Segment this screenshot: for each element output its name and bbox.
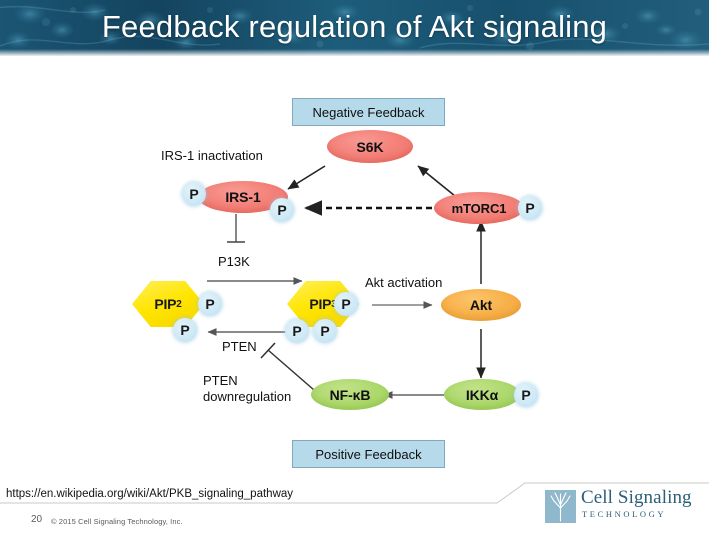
tbar-pten (261, 343, 275, 358)
p-badge-pip2-right: P (198, 292, 222, 316)
logo-subtitle: TECHNOLOGY (582, 509, 666, 519)
slide-header: Feedback regulation of Akt signaling (0, 0, 709, 56)
pi3k-label: P13K (218, 254, 250, 269)
pten-downregulation-line1: PTEN (203, 373, 238, 388)
edge-nfkb-inhibits-pten (268, 350, 314, 390)
node-mtorc1-label: mTORC1 (452, 201, 507, 216)
negative-feedback-box: Negative Feedback (292, 98, 445, 126)
node-s6k: S6K (327, 130, 413, 163)
negative-feedback-label: Negative Feedback (312, 105, 424, 120)
node-akt-label: Akt (470, 297, 492, 313)
pathway-diagram: Negative Feedback IRS-1 inactivation S6K… (0, 56, 709, 481)
tree-icon-glyph (545, 490, 576, 523)
p-badge-pip3-bottom-left: P (285, 319, 309, 343)
node-nfkb-label: NF-κB (330, 387, 371, 403)
edge-s6k-to-irs1 (288, 166, 325, 189)
node-irs1-label: IRS-1 (225, 189, 260, 205)
edge-mtorc1-to-s6k (418, 166, 455, 196)
pten-downregulation-line2: downregulation (203, 389, 291, 404)
p-badge-irs1-right: P (270, 198, 294, 222)
logo-wordmark: Cell Signaling (581, 487, 692, 509)
cell-signaling-logo: Cell Signaling TECHNOLOGY (545, 489, 705, 525)
slide: Feedback regulation of Akt signaling (0, 0, 709, 535)
p-badge-pip3-right: P (334, 292, 358, 316)
node-ikka-label: IKKα (466, 387, 498, 403)
node-mtorc1: mTORC1 (434, 192, 524, 224)
p-badge-mtorc1: P (518, 196, 542, 220)
p-badge-irs1-left: P (182, 182, 206, 206)
node-nfkb: NF-κB (311, 379, 389, 410)
node-s6k-label: S6K (357, 139, 384, 155)
source-url[interactable]: https://en.wikipedia.org/wiki/Akt/PKB_si… (6, 488, 293, 500)
irs1-inactivation-label: IRS-1 inactivation (161, 148, 263, 163)
tree-icon (545, 490, 576, 523)
p-badge-pip2-bottom: P (173, 318, 197, 342)
page-title: Feedback regulation of Akt signaling (0, 0, 709, 56)
copyright-text: © 2015 Cell Signaling Technology, Inc. (51, 517, 183, 526)
akt-activation-label: Akt activation (365, 275, 442, 290)
page-number: 20 (31, 514, 42, 525)
node-ikka: IKKα (444, 379, 520, 410)
positive-feedback-label: Positive Feedback (315, 447, 421, 462)
positive-feedback-box: Positive Feedback (292, 440, 445, 468)
node-pip2-label: PIP2 (132, 281, 204, 327)
pten-label: PTEN (222, 339, 257, 354)
node-pip2: PIP2 (132, 281, 204, 327)
node-akt: Akt (441, 289, 521, 321)
p-badge-pip3-bottom-right: P (313, 319, 337, 343)
p-badge-ikka: P (514, 383, 538, 407)
